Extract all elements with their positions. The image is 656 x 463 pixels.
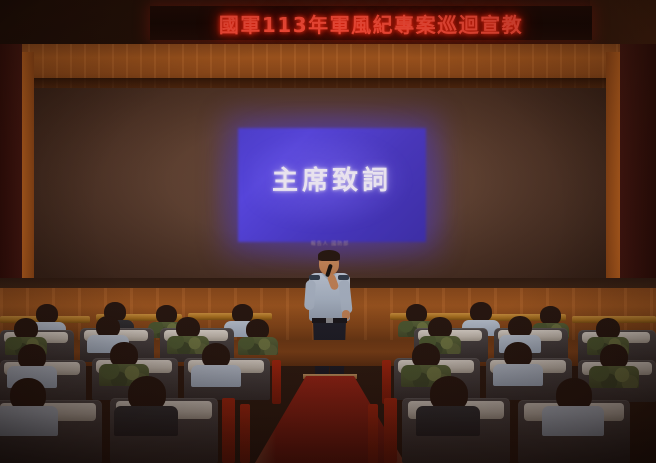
seat-end-frame	[272, 360, 281, 404]
speaker-left-arm	[304, 280, 316, 311]
auditorium-photo: 國軍113年軍風紀專案巡迴宣教 主席致詞 報告人 國防部	[0, 0, 656, 463]
audience-shoulders	[238, 337, 278, 355]
audience-shoulders	[114, 406, 178, 436]
audience-head	[470, 302, 492, 322]
audience-head	[36, 304, 58, 324]
speaker-hair	[318, 250, 340, 261]
audience-shoulders	[542, 406, 604, 436]
seat-end-frame	[240, 404, 250, 463]
audience-shoulders	[0, 406, 58, 436]
left-wood-pilaster	[22, 52, 34, 292]
slide-title-text: 主席致詞	[238, 160, 426, 197]
ceiling-left-shadow	[0, 0, 150, 46]
seat-end-frame	[384, 398, 397, 463]
seat-end-frame	[222, 398, 235, 463]
slide-sub-text: 報告人 國防部	[290, 240, 370, 247]
audience-shoulders	[589, 366, 639, 388]
audience-shoulders	[493, 364, 543, 386]
speaker-figure	[300, 252, 358, 392]
ceiling-right-shadow	[590, 0, 656, 46]
seat-end-frame	[368, 404, 378, 463]
audience-shoulders	[416, 406, 480, 436]
led-banner-text: 國軍113年軍風紀專案巡迴宣教	[150, 9, 592, 38]
right-wall-column	[620, 44, 656, 299]
led-banner-panel: 國軍113年軍風紀專案巡迴宣教	[150, 6, 592, 40]
speaker-belt-buckle	[326, 318, 333, 323]
left-wall-column	[0, 44, 22, 294]
audience-shoulders	[191, 365, 241, 387]
speaker-left-epaulette	[309, 275, 320, 280]
right-wood-pilaster	[606, 52, 620, 295]
speaker-right-epaulette	[338, 275, 349, 280]
